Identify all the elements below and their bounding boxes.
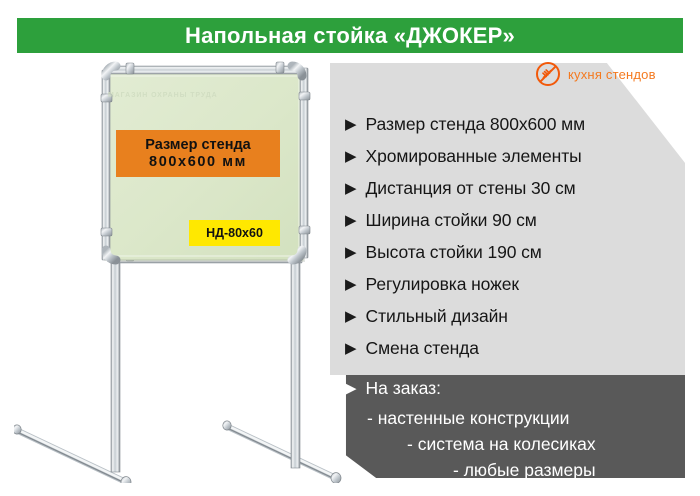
features-list: ▶ Размер стенда 800х600 мм ▶ Хромированн… bbox=[345, 114, 685, 370]
board-brand-label: МАГАЗИН ОХРАНЫ ТРУДА bbox=[108, 92, 218, 99]
triangle-bullet-icon: ▶ bbox=[345, 381, 357, 396]
custom-order-content: ▶ На заказ: - настенные конструкции - си… bbox=[345, 378, 685, 483]
list-item: ▶ Смена стенда bbox=[345, 338, 685, 370]
triangle-bullet-icon: ▶ bbox=[345, 309, 357, 324]
triangle-bullet-icon: ▶ bbox=[345, 341, 357, 356]
code-badge: НД-80х60 bbox=[189, 220, 280, 246]
list-item-label: Регулировка ножек bbox=[366, 274, 519, 295]
triangle-bullet-icon: ▶ bbox=[345, 117, 357, 132]
stand-legs bbox=[111, 256, 300, 472]
header-banner: Напольная стойка «ДЖОКЕР» bbox=[17, 18, 683, 53]
triangle-bullet-icon: ▶ bbox=[345, 213, 357, 228]
list-item-label: Смена стенда bbox=[366, 338, 479, 359]
list-item-label: Дистанция от стены 30 см bbox=[366, 178, 576, 199]
brand-logo: кухня стендов bbox=[534, 60, 656, 88]
list-item-label: Ширина стойки 90 см bbox=[366, 210, 537, 231]
size-badge: Размер стенда 800х600 мм bbox=[116, 130, 280, 177]
list-item: ▶ Размер стенда 800х600 мм bbox=[345, 114, 685, 146]
list-item: ▶ Стильный дизайн bbox=[345, 306, 685, 338]
custom-order-line: - любые размеры bbox=[345, 457, 685, 483]
triangle-bullet-icon: ▶ bbox=[345, 245, 357, 260]
list-item: ▶ Высота стойки 190 см bbox=[345, 242, 685, 274]
poster-root: Напольная стойка «ДЖОКЕР» кухня стендов … bbox=[0, 0, 700, 496]
custom-order-heading-label: На заказ: bbox=[366, 378, 441, 399]
custom-order-line: - система на колесиках bbox=[345, 431, 685, 457]
custom-order-heading: ▶ На заказ: bbox=[345, 378, 685, 405]
list-item: ▶ Дистанция от стены 30 см bbox=[345, 178, 685, 210]
size-badge-line2: 800х600 мм bbox=[149, 154, 247, 170]
list-item-label: Хромированные элементы bbox=[366, 146, 582, 167]
st-monogram-icon bbox=[76, 82, 102, 108]
board-brand-logo: МАГАЗИН ОХРАНЫ ТРУДА bbox=[76, 78, 226, 112]
size-badge-line1: Размер стенда bbox=[145, 137, 251, 153]
triangle-bullet-icon: ▶ bbox=[345, 149, 357, 164]
list-item: ▶ Регулировка ножек bbox=[345, 274, 685, 306]
brand-name: кухня стендов bbox=[568, 67, 656, 82]
stand-illustration bbox=[14, 58, 344, 483]
triangle-bullet-icon: ▶ bbox=[345, 277, 357, 292]
list-item-label: Стильный дизайн bbox=[366, 306, 508, 327]
code-badge-label: НД-80х60 bbox=[206, 226, 263, 240]
list-item: ▶ Ширина стойки 90 см bbox=[345, 210, 685, 242]
list-item: ▶ Хромированные элементы bbox=[345, 146, 685, 178]
triangle-bullet-icon: ▶ bbox=[345, 181, 357, 196]
custom-order-line: - настенные конструкции bbox=[345, 405, 685, 431]
fork-no-sign-icon bbox=[534, 60, 562, 88]
list-item-label: Размер стенда 800х600 мм bbox=[366, 114, 585, 135]
page-title: Напольная стойка «ДЖОКЕР» bbox=[185, 23, 515, 49]
list-item-label: Высота стойки 190 см bbox=[366, 242, 542, 263]
